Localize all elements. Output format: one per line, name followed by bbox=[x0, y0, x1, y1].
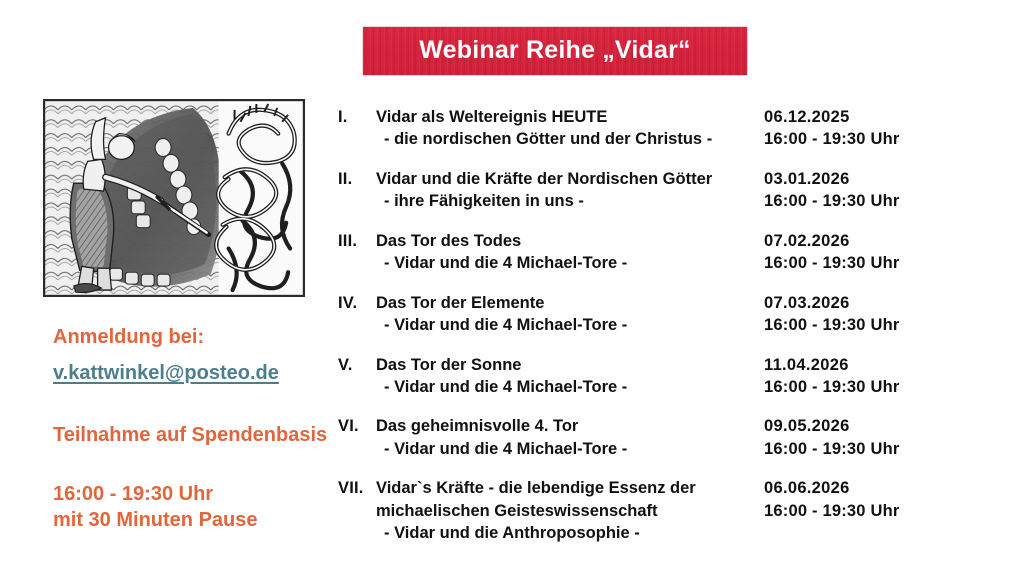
item-title: Das geheimnisvolle 4. Tor bbox=[376, 415, 764, 437]
item-subtitle: - ihre Fähigkeiten in uns - bbox=[376, 190, 764, 212]
zeiten-block: 16:00 - 19:30 Uhr mit 30 Minuten Pause bbox=[53, 481, 258, 534]
item-subtitle: - Vidar und die Anthroposophie - bbox=[376, 522, 764, 544]
item-title: Das Tor des Todes bbox=[376, 230, 764, 252]
zeiten-line-1: 16:00 - 19:30 Uhr bbox=[53, 481, 258, 507]
programme-item-1: I. Vidar als Weltereignis HEUTE - die no… bbox=[338, 106, 998, 151]
item-numeral: III. bbox=[338, 230, 376, 252]
item-date: 03.01.2026 bbox=[764, 168, 899, 190]
item-title: Vidar`s Kräfte - die lebendige Essenz de… bbox=[376, 477, 764, 499]
item-subtitle: - Vidar und die 4 Michael-Tore - bbox=[376, 314, 764, 336]
contact-email-link[interactable]: v.kattwinkel@posteo.de bbox=[53, 360, 279, 386]
item-title: Das Tor der Elemente bbox=[376, 292, 764, 314]
vidar-fenrir-woodcut-image bbox=[43, 99, 305, 297]
item-subtitle: - die nordischen Götter und der Christus… bbox=[376, 128, 764, 150]
programme-item-2: II. Vidar und die Kräfte der Nordischen … bbox=[338, 168, 998, 213]
item-subtitle: - Vidar und die 4 Michael-Tore - bbox=[376, 438, 764, 460]
item-numeral: IV. bbox=[338, 292, 376, 314]
item-numeral: V. bbox=[338, 354, 376, 376]
item-numeral: I. bbox=[338, 106, 376, 128]
page-title: Webinar Reihe „Vidar“ bbox=[419, 38, 690, 64]
slide-canvas: Webinar Reihe „Vidar“ bbox=[0, 0, 1024, 576]
item-numeral: II. bbox=[338, 168, 376, 190]
programme-list: I. Vidar als Weltereignis HEUTE - die no… bbox=[338, 106, 998, 545]
programme-item-7: VII. Vidar`s Kräfte - die lebendige Esse… bbox=[338, 477, 998, 544]
item-title: Vidar und die Kräfte der Nordischen Gött… bbox=[376, 168, 764, 190]
title-banner: Webinar Reihe „Vidar“ bbox=[363, 27, 747, 75]
item-title: Das Tor der Sonne bbox=[376, 354, 764, 376]
item-time: 16:00 - 19:30 Uhr bbox=[764, 314, 899, 336]
zeiten-line-2: mit 30 Minuten Pause bbox=[53, 507, 258, 533]
item-time: 16:00 - 19:30 Uhr bbox=[764, 500, 899, 522]
item-date: 11.04.2026 bbox=[764, 354, 899, 376]
spendenbasis-label: Teilnahme auf Spendenbasis bbox=[53, 422, 327, 448]
item-time: 16:00 - 19:30 Uhr bbox=[764, 252, 899, 274]
item-time: 16:00 - 19:30 Uhr bbox=[764, 128, 899, 150]
item-subtitle: - Vidar und die 4 Michael-Tore - bbox=[376, 376, 764, 398]
item-numeral: VI. bbox=[338, 415, 376, 437]
item-subtitle: - Vidar und die 4 Michael-Tore - bbox=[376, 252, 764, 274]
item-time: 16:00 - 19:30 Uhr bbox=[764, 376, 899, 398]
programme-item-6: VI. Das geheimnisvolle 4. Tor - Vidar un… bbox=[338, 415, 998, 460]
anmeldung-label: Anmeldung bei: bbox=[53, 324, 204, 350]
item-title: Vidar als Weltereignis HEUTE bbox=[376, 106, 764, 128]
item-date: 06.12.2025 bbox=[764, 106, 899, 128]
item-time: 16:00 - 19:30 Uhr bbox=[764, 190, 899, 212]
item-date: 07.02.2026 bbox=[764, 230, 899, 252]
programme-item-4: IV. Das Tor der Elemente - Vidar und die… bbox=[338, 292, 998, 337]
programme-item-5: V. Das Tor der Sonne - Vidar und die 4 M… bbox=[338, 354, 998, 399]
item-date: 07.03.2026 bbox=[764, 292, 899, 314]
item-subtitle: michaelischen Geisteswissenschaft bbox=[376, 500, 764, 522]
item-numeral: VII. bbox=[338, 477, 376, 499]
item-time: 16:00 - 19:30 Uhr bbox=[764, 438, 899, 460]
item-date: 09.05.2026 bbox=[764, 415, 899, 437]
item-date: 06.06.2026 bbox=[764, 477, 899, 499]
programme-item-3: III. Das Tor des Todes - Vidar und die 4… bbox=[338, 230, 998, 275]
